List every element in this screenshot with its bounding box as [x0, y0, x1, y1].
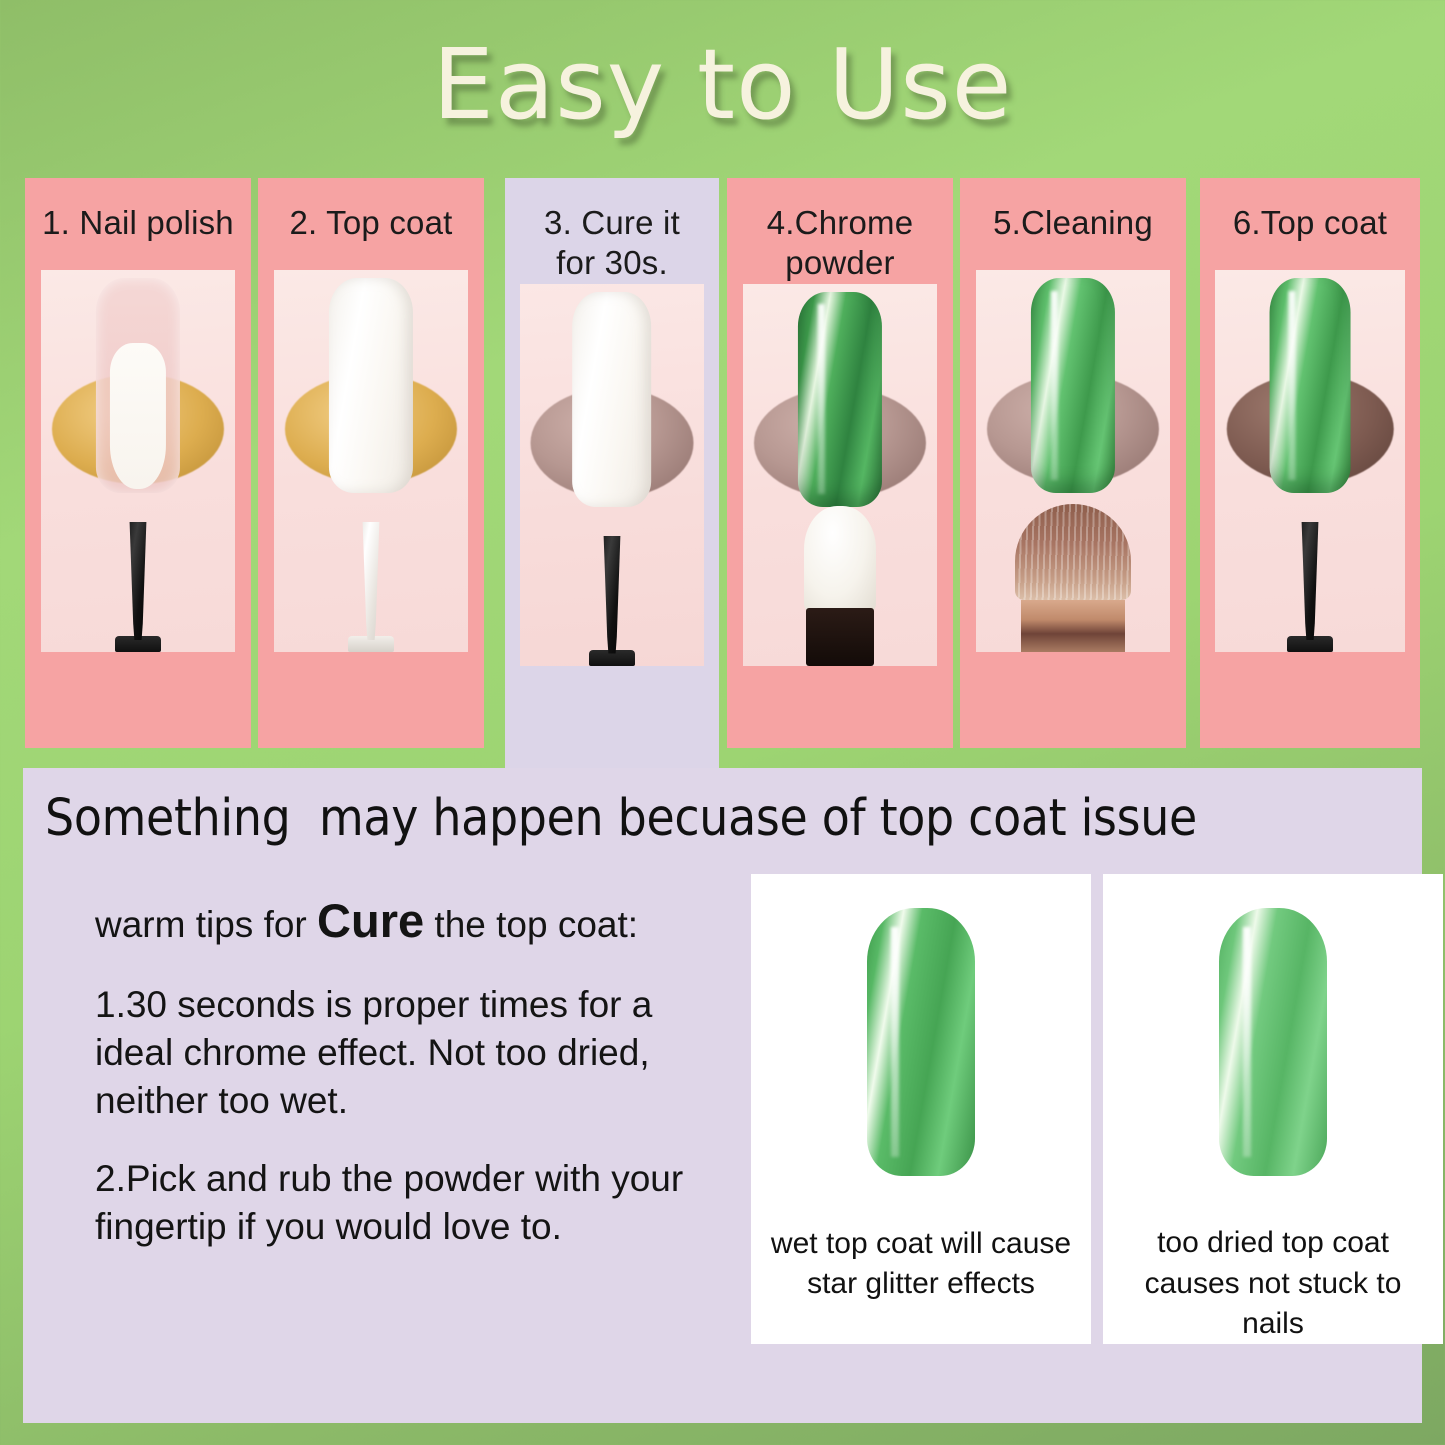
black-polish-brush-icon	[589, 536, 635, 666]
example-wet-caption: wet top coat will cause star glitter eff…	[751, 1222, 1091, 1344]
step-card-2-photo	[274, 270, 468, 652]
finger-illustration	[1255, 278, 1365, 516]
white-polish-brush-icon	[348, 522, 394, 652]
finger-illustration	[82, 278, 195, 516]
example-card-wet[interactable]: wet top coat will cause star glitter eff…	[751, 874, 1091, 1344]
tip-two: 2.Pick and rub the powder with your fing…	[95, 1155, 715, 1251]
tips-text-block: warm tips for Cure the top coat: 1.30 se…	[95, 890, 715, 1282]
step-card-1-label: 1. Nail polish	[25, 178, 251, 270]
step-card-3[interactable]: 3. Cure it for 30s.	[505, 178, 719, 778]
tips-intro: warm tips for Cure the top coat:	[95, 890, 715, 951]
step-card-5-label: 5.Cleaning	[960, 178, 1186, 270]
step-card-2-label: 2. Top coat	[258, 178, 484, 270]
step-card-5-photo	[976, 270, 1170, 652]
step-card-2[interactable]: 2. Top coat	[258, 178, 484, 748]
tips-panel-heading: Something may happen becuase of top coat…	[45, 792, 1405, 846]
finger-illustration	[559, 292, 666, 530]
nail-white	[329, 278, 412, 493]
tips-intro-before: warm tips for	[95, 904, 317, 945]
step-card-3-label: 3. Cure it for 30s.	[505, 178, 719, 284]
example-wet-photo	[751, 874, 1091, 1222]
fan-brush-icon	[1015, 504, 1131, 652]
nail-wet-chrome	[867, 908, 975, 1176]
finger-illustration	[315, 278, 428, 516]
step-card-4-photo	[743, 284, 937, 666]
nail-clear	[96, 278, 179, 493]
tips-intro-after: the top coat:	[424, 904, 638, 945]
step-card-6-label: 6.Top coat	[1200, 178, 1420, 270]
step-card-4-label: 4.Chrome powder	[727, 178, 953, 284]
step-card-6-photo	[1215, 270, 1404, 652]
step-card-1-photo	[41, 270, 235, 652]
black-polish-brush-icon	[115, 522, 161, 652]
finger-illustration	[784, 292, 897, 530]
nail-green-chrome	[798, 292, 881, 507]
page-title: Easy to Use	[433, 36, 1013, 133]
step-card-5[interactable]: 5.Cleaning	[960, 178, 1186, 748]
black-polish-brush-icon	[1287, 522, 1333, 652]
page-header: Easy to Use	[0, 0, 1445, 168]
tips-intro-strong: Cure	[317, 894, 424, 947]
example-dried-caption: too dried top coat causes not stuck to n…	[1103, 1221, 1443, 1344]
nail-green-chrome	[1031, 278, 1114, 493]
nail-green-chrome	[1269, 278, 1350, 493]
finger-illustration	[1017, 278, 1130, 516]
tips-panel: Something may happen becuase of top coat…	[23, 768, 1422, 1423]
nail-dried-chrome	[1219, 908, 1327, 1176]
examples-row: wet top coat will cause star glitter eff…	[751, 874, 1445, 1392]
tip-one: 1.30 seconds is proper times for a ideal…	[95, 981, 715, 1125]
example-card-dried[interactable]: too dried top coat causes not stuck to n…	[1103, 874, 1443, 1344]
steps-row: 1. Nail polish 2. Top coat 3. Cure it fo…	[0, 178, 1445, 758]
step-card-1[interactable]: 1. Nail polish	[25, 178, 251, 748]
example-dried-photo	[1103, 874, 1443, 1221]
step-card-6[interactable]: 6.Top coat	[1200, 178, 1420, 748]
step-card-4[interactable]: 4.Chrome powder	[727, 178, 953, 748]
nail-white	[573, 292, 652, 507]
sponge-applicator-icon	[804, 506, 876, 666]
step-card-3-photo	[520, 284, 704, 666]
